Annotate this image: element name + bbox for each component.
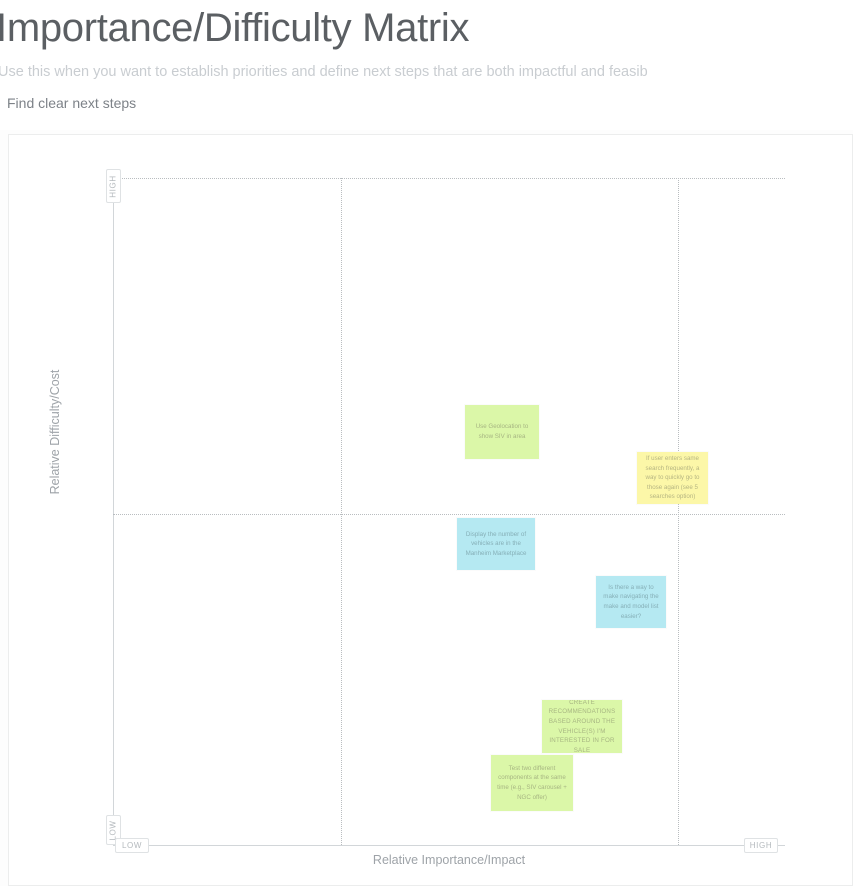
page-subtitle: Use this when you want to establish prio… (0, 64, 648, 80)
matrix-page: Importance/Difficulty Matrix Use this wh… (0, 0, 853, 886)
gridline-horizontal-mid (113, 514, 785, 515)
y-axis-line (113, 173, 114, 845)
sticky-note[interactable]: Create recommendations based around the … (542, 700, 622, 753)
y-axis-high-text: HIGH (109, 175, 118, 197)
y-axis-high-label: HIGH (106, 169, 121, 203)
sticky-note-text: Use Geolocation to show SIV in area (470, 422, 534, 441)
sticky-note-text: Is there a way to make navigating the ma… (601, 583, 661, 621)
x-axis-low-label: LOW (115, 838, 149, 853)
sticky-note[interactable]: Display the number of vehicles are in th… (457, 518, 535, 570)
sticky-note-text: Test two different components at the sam… (496, 764, 568, 802)
y-axis-title: Relative Difficulty/Cost (48, 342, 62, 522)
sticky-note[interactable]: Is there a way to make navigating the ma… (596, 576, 666, 628)
page-header: Importance/Difficulty Matrix Use this wh… (0, 0, 853, 130)
sticky-note[interactable]: If user enters same search frequently, a… (637, 452, 708, 504)
sticky-note-text: If user enters same search frequently, a… (642, 454, 703, 502)
sticky-note[interactable]: Use Geolocation to show SIV in area (465, 405, 539, 459)
sticky-note-text: Create recommendations based around the … (547, 700, 617, 753)
y-axis-low-text: LOW (109, 820, 118, 840)
x-axis-title: Relative Importance/Impact (113, 853, 785, 867)
gridline-vertical-mid (341, 178, 342, 845)
sticky-note-text: Display the number of vehicles are in th… (462, 530, 530, 559)
x-axis-high-label: HIGH (744, 838, 778, 853)
page-title: Importance/Difficulty Matrix (0, 6, 469, 51)
section-label: Find clear next steps (7, 95, 136, 111)
gridline-top-boundary (113, 178, 785, 179)
x-axis-line (113, 845, 785, 846)
gridline-right-boundary (678, 178, 679, 845)
sticky-note[interactable]: Test two different components at the sam… (491, 755, 573, 811)
matrix-canvas[interactable]: Relative Difficulty/Cost Relative Import… (8, 134, 853, 886)
